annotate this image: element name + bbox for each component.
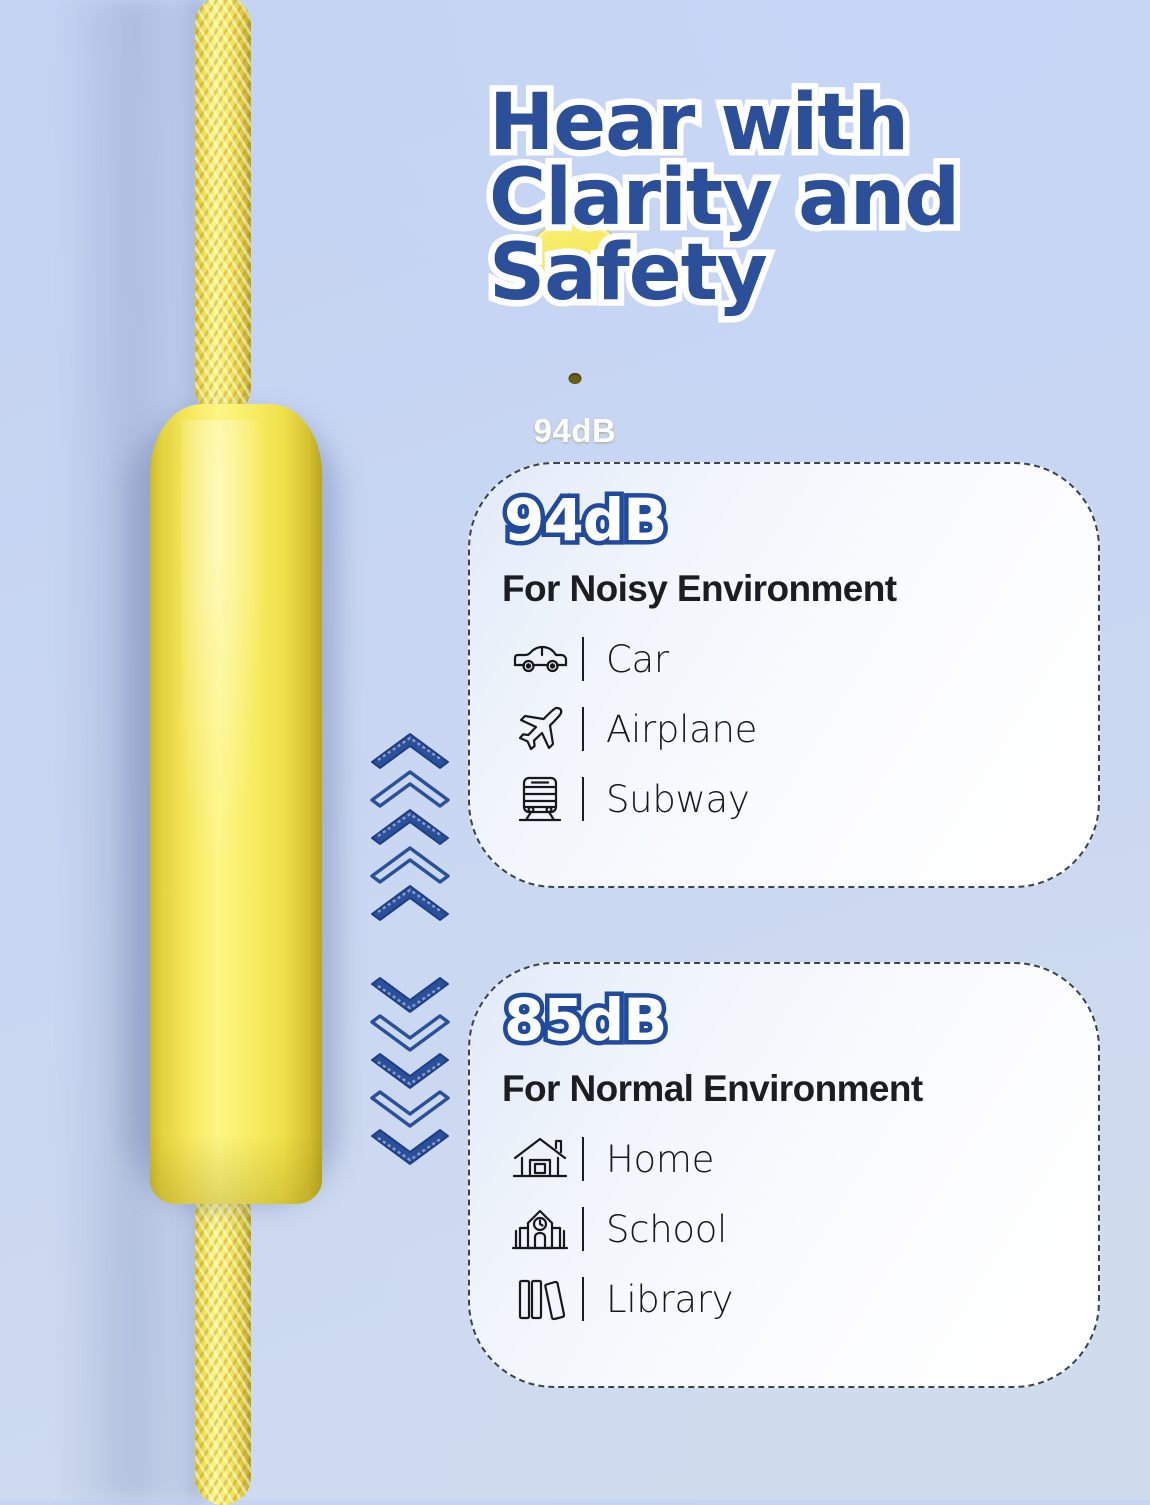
braided-cable-lower [195,1185,251,1505]
headline-line-2: Clarity and [489,161,1109,236]
row-divider [582,1207,584,1251]
environment-list: Home School [502,1134,1078,1324]
list-item: Airplane [502,704,1078,754]
chevron-down-icon [366,1128,454,1172]
row-divider [582,637,584,681]
list-item-label: Airplane [606,708,757,751]
list-item-label: Library [606,1278,733,1321]
product-feature-banner: 94dB 85dB Hear with Clarity and Safety [0,0,1150,1500]
microphone-hole-icon [569,373,582,384]
list-item: Car [502,634,1078,684]
headline-line-3: Safety [489,236,1109,311]
list-item: Home [502,1134,1078,1184]
row-divider [582,1137,584,1181]
list-item: Library [502,1274,1078,1324]
page-title: Hear with Clarity and Safety [489,86,1109,311]
module-taper-shade [150,1134,322,1204]
card-subtitle: For Noisy Environment [502,568,896,610]
library-icon [502,1276,578,1322]
card-db-value: 85dB [504,986,666,1054]
list-item-label: Car [606,638,669,681]
feature-card-normal: 85dB For Normal Environment Home [468,962,1100,1388]
list-item-label: School [606,1208,727,1251]
list-item-label: Home [606,1138,714,1181]
list-item: School [502,1204,1078,1254]
home-icon [502,1136,578,1182]
list-item-label: Subway [606,778,749,821]
list-item: Subway [502,774,1078,824]
feature-card-noisy: 94dB For Noisy Environment Car [468,462,1100,888]
row-divider [582,707,584,751]
module-label-94db: 94dB [0,412,1150,450]
airplane-icon [502,704,578,754]
chevron-group-up [366,726,454,916]
headline-line-1: Hear with [489,86,1109,161]
subway-icon [502,775,578,823]
school-icon [502,1206,578,1252]
row-divider [582,1277,584,1321]
row-divider [582,777,584,821]
chevron-up-icon [366,878,454,922]
inline-control-module [150,404,322,1204]
car-icon [502,642,578,676]
braided-cable-upper [195,0,251,416]
chevron-group-down [366,976,454,1166]
environment-list: Car Airplane [502,634,1078,824]
card-subtitle: For Normal Environment [502,1068,923,1110]
module-highlight [181,420,270,900]
card-db-value: 94dB [504,486,666,554]
